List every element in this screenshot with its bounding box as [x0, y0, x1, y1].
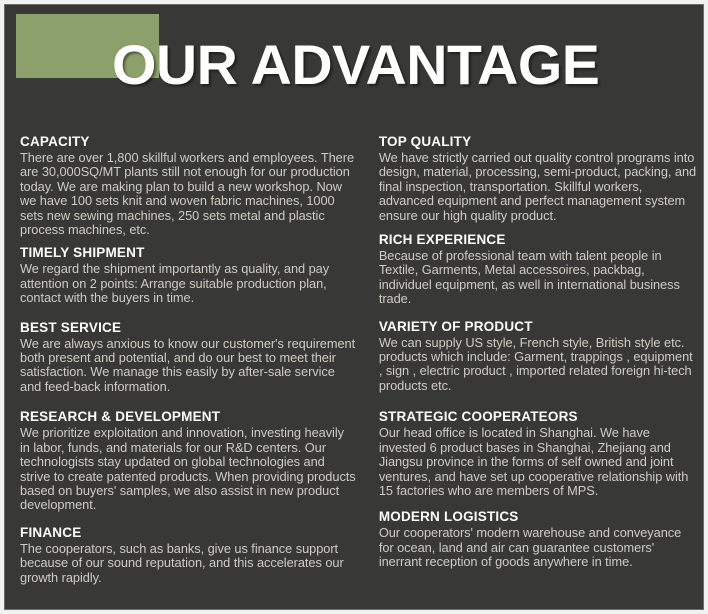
section-text: There are over 1,800 skillful workers an…	[20, 151, 357, 237]
section-text: We have strictly carried out quality con…	[379, 151, 698, 223]
section-text: Our head office is located in Shanghai. …	[379, 426, 698, 498]
section-text: We are always anxious to know our custom…	[20, 337, 357, 395]
section-heading: FINANCE	[20, 525, 357, 541]
section-heading: RESEARCH & DEVELOPMENT	[20, 409, 357, 425]
section-heading: RICH EXPERIENCE	[379, 232, 698, 248]
section-modern-logistics: MODERN LOGISTICS Our cooperators' modern…	[379, 509, 698, 569]
section-best-service: BEST SERVICE We are always anxious to kn…	[20, 320, 357, 395]
section-text: The cooperators, such as banks, give us …	[20, 542, 357, 585]
section-heading: VARIETY OF PRODUCT	[379, 319, 698, 335]
section-text: Our cooperators' modern warehouse and co…	[379, 526, 698, 569]
section-text: We regard the shipment importantly as qu…	[20, 262, 357, 305]
section-text: Because of professional team with talent…	[379, 249, 698, 307]
section-heading: TIMELY SHIPMENT	[20, 245, 357, 261]
section-top-quality: TOP QUALITY We have strictly carried out…	[379, 134, 698, 223]
section-heading: CAPACITY	[20, 134, 357, 150]
section-rich-experience: RICH EXPERIENCE Because of professional …	[379, 232, 698, 307]
section-heading: STRATEGIC COOPERATEORS	[379, 409, 698, 425]
section-strategic-cooperateors: STRATEGIC COOPERATEORS Our head office i…	[379, 409, 698, 498]
advantage-poster: OUR ADVANTAGE CAPACITY There are over 1,…	[0, 0, 708, 614]
section-finance: FINANCE The cooperators, such as banks, …	[20, 525, 357, 585]
section-text: We can supply US style, French style, Br…	[379, 336, 698, 394]
left-column: CAPACITY There are over 1,800 skillful w…	[20, 134, 371, 585]
section-research-development: RESEARCH & DEVELOPMENT We prioritize exp…	[20, 409, 357, 512]
section-heading: MODERN LOGISTICS	[379, 509, 698, 525]
right-column: TOP QUALITY We have strictly carried out…	[371, 134, 698, 585]
section-heading: TOP QUALITY	[379, 134, 698, 150]
section-heading: BEST SERVICE	[20, 320, 357, 336]
section-variety-of-product: VARIETY OF PRODUCT We can supply US styl…	[379, 319, 698, 394]
section-timely-shipment: TIMELY SHIPMENT We regard the shipment i…	[20, 245, 357, 305]
page-title: OUR ADVANTAGE	[112, 37, 599, 93]
section-text: We prioritize exploitation and innovatio…	[20, 426, 357, 512]
section-capacity: CAPACITY There are over 1,800 skillful w…	[20, 134, 357, 237]
content-columns: CAPACITY There are over 1,800 skillful w…	[4, 134, 704, 585]
